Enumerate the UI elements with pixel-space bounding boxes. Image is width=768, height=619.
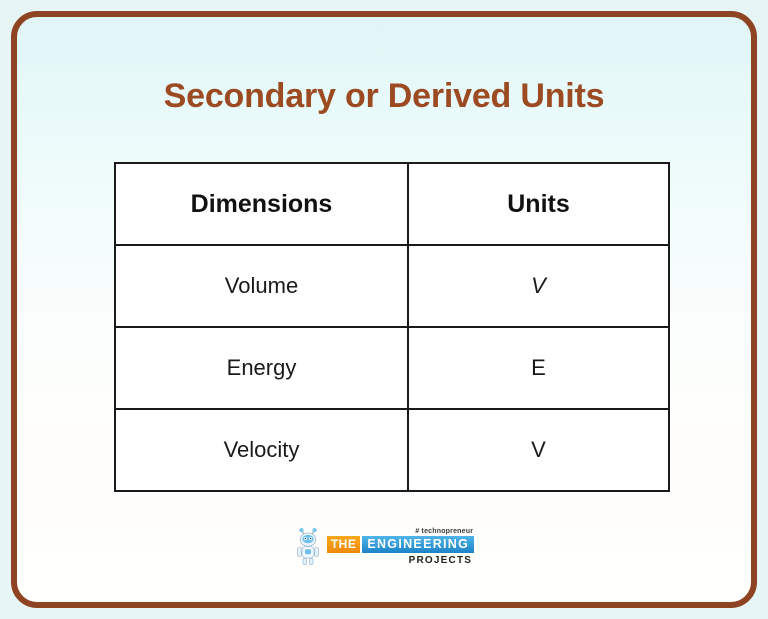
unit-symbol: E (531, 355, 546, 380)
cell-unit: E (408, 327, 669, 409)
logo-word-projects: PROJECTS (409, 555, 475, 566)
logo-tagline: # technopreneur (415, 528, 474, 535)
logo-word-the: THE (327, 536, 361, 553)
logo-bar: THE ENGINEERING (327, 536, 474, 553)
table-row: Energy E (115, 327, 669, 409)
cell-dimension: Velocity (115, 409, 408, 491)
table-row: Velocity V (115, 409, 669, 491)
column-header-units: Units (408, 163, 669, 245)
logo-wrap: # technopreneur THE ENGINEERING PROJECTS (294, 526, 474, 566)
page-title: Secondary or Derived Units (17, 77, 751, 116)
cell-dimension: Volume (115, 245, 408, 327)
table-row: Volume V (115, 245, 669, 327)
derived-units-table: Dimensions Units Volume V Energy E Veloc… (114, 162, 670, 492)
unit-symbol: V (531, 273, 546, 298)
cell-unit: V (408, 245, 669, 327)
cell-unit: V (408, 409, 669, 491)
robot-icon (294, 526, 322, 566)
slide-frame: Secondary or Derived Units Dimensions Un… (11, 11, 757, 608)
footer-logo: # technopreneur THE ENGINEERING PROJECTS (17, 526, 751, 566)
table-header-row: Dimensions Units (115, 163, 669, 245)
cell-dimension: Energy (115, 327, 408, 409)
unit-symbol: V (531, 437, 546, 462)
logo-text-block: # technopreneur THE ENGINEERING PROJECTS (327, 528, 474, 566)
column-header-dimensions: Dimensions (115, 163, 408, 245)
logo-word-engineering: ENGINEERING (362, 536, 474, 553)
